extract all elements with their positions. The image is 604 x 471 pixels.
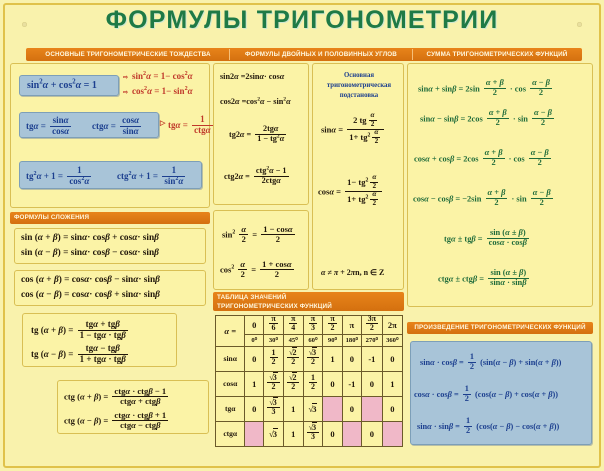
cell-deg-360: 360⁰ <box>382 334 402 346</box>
formula-sin-sum: sin (α + β) = sinα· cosβ + cosα· sinβ <box>21 233 159 243</box>
table-row: sinα 0 12 √22 √32 1 0 -1 0 <box>216 346 403 371</box>
cell-tg-180: 0 <box>342 396 361 421</box>
table-row-radians: α = 0 π6 π4 π3 π2 π 3π2 2π <box>216 316 403 335</box>
panel-universal-substitution: Основная тригонометрическая подстановка … <box>312 63 404 290</box>
formula-tg-difference: tg (α − β) = tgα − tgβ1 + tgα · tgβ <box>31 345 130 365</box>
cell-sin-270: -1 <box>362 346 383 371</box>
cell-row-label-cos: cosα <box>216 371 245 396</box>
formula-tg-definition: tgα = sinαcosα <box>26 117 73 137</box>
panel-half-angle: sin2 α2 = 1 − cosα2 cos2 α2 = 1 + cosα2 <box>213 210 309 290</box>
box-pythagorean-identity: sin2α + cos2α = 1 <box>19 75 119 96</box>
table-row: cosα 1 √32 √22 12 0 -1 0 1 <box>216 371 403 396</box>
cell-deg-90: 90⁰ <box>323 334 342 346</box>
cell-deg-0: 0⁰ <box>245 334 264 346</box>
cell-cos-45: √22 <box>283 371 303 396</box>
cell-rad-0: 0 <box>245 316 264 335</box>
cell-rad-pi6: π6 <box>264 316 284 335</box>
header-addition-formulas: ФОРМУЛЫ СЛОЖЕНИЯ <box>10 212 210 224</box>
formula-sin-substitution: sinα = 2 tgα2 1+ tg2α2 <box>321 114 386 148</box>
formula-ctg-difference: ctg (α − β) = ctgα · ctgβ + 1ctgα − ctgβ <box>64 412 170 431</box>
header-values-table-line2: ТРИГОНОМЕТРИЧЕСКИХ ФУНКЦИЙ <box>217 302 404 311</box>
cell-deg-180: 180⁰ <box>342 334 361 346</box>
header-product-of-functions: ПРОИЗВЕДЕНИЕ ТРИГОНОМЕТРИЧЕСКИХ ФУНКЦИЙ <box>407 322 593 334</box>
cell-rad-pi4: π4 <box>283 316 303 335</box>
arrow-derived-cos-icon: ⇨ <box>123 89 128 96</box>
cell-ctg-180-undefined <box>342 421 361 446</box>
arrow-derived-sin-icon: ⇨ <box>123 74 128 81</box>
cell-ctg-270: 0 <box>362 421 383 446</box>
cell-row-label-tg: tgα <box>216 396 245 421</box>
formula-ctg-2a: ctg2α = ctg2α − 12ctgα <box>224 168 291 186</box>
cell-sin-0: 0 <box>245 346 264 371</box>
header-double-half-angles: ФОРМУЛЫ ДВОЙНЫХ И ПОЛОВИННЫХ УГЛОВ <box>231 48 411 61</box>
cell-row-label-ctg: ctgα <box>216 421 245 446</box>
formula-sin-2a: sin2α =2sinα· cosα <box>220 72 284 81</box>
cell-ctg-30: √3 <box>264 421 284 446</box>
arrow-tg-reciprocal-icon: ▷ <box>160 119 165 127</box>
label-substitution-line3: подстановка <box>313 92 405 99</box>
formula-pythagorean: sin2α + cos2α = 1 <box>27 80 97 91</box>
box-tg-ctg-definitions: tgα = sinαcosα ctgα = cosαsinα <box>19 112 159 138</box>
table-row: ctgα √3 1 √33 0 0 <box>216 421 403 446</box>
panel-basic-identities: sin2α + cos2α = 1 ⇨ sin2α = 1− cos2α ⇨ c… <box>10 63 210 208</box>
label-substitution-line1: Основная <box>313 72 405 79</box>
formula-tg-sum: tg (α + β) = tgα + tgβ1 − tgα · tgβ <box>31 321 130 341</box>
panel-sum-to-product: sinα + sinβ = 2sin α + β2 · cos α − β2 s… <box>407 63 593 307</box>
cell-tg-0: 0 <box>245 396 264 421</box>
cell-sin-180: 0 <box>342 346 361 371</box>
formula-cos-2a: cos2α =cos2α − sin2α <box>220 97 291 106</box>
formula-cos-cos-product: cosα · cosβ = 12 (cos(α − β) + cos(α + β… <box>414 386 558 405</box>
cell-rad-2pi: 2π <box>382 316 402 335</box>
formula-derived-sin: sin2α = 1− cos2α <box>132 71 193 81</box>
cell-ctg-90: 0 <box>323 421 342 446</box>
cell-tg-90-undefined <box>323 396 342 421</box>
formula-tg-squared-plus-one: tg2α + 1 = 1cos2α <box>26 167 93 187</box>
formula-sin-plus-sin: sinα + sinβ = 2sin α + β2 · cos α − β2 <box>418 80 554 99</box>
cell-ctg-0-undefined <box>245 421 264 446</box>
cell-sin-90: 1 <box>323 346 342 371</box>
cell-deg-270: 270⁰ <box>362 334 383 346</box>
cell-tg-45: 1 <box>283 396 303 421</box>
cell-rad-pi3: π3 <box>303 316 323 335</box>
page-title: ФОРМУЛЫ ТРИГОНОМЕТРИИ <box>0 6 604 35</box>
trigonometry-formula-poster: ФОРМУЛЫ ТРИГОНОМЕТРИИ ОСНОВНЫЕ ТРИГОНОМЕ… <box>0 0 604 471</box>
panel-tangent-addition: tg (α + β) = tgα + tgβ1 − tgα · tgβ tg (… <box>22 313 177 367</box>
formula-cos-difference: cos (α − β) = cosα· cosβ + sinα· sinβ <box>21 290 160 300</box>
formula-cos-half-squared: cos2 α2 = 1 + cosα2 <box>220 261 296 280</box>
values-table: α = 0 π6 π4 π3 π2 π 3π2 2π 0⁰ 30⁰ 45⁰ 60… <box>215 315 403 447</box>
table-row: tgα 0 √33 1 √3 0 0 <box>216 396 403 421</box>
cell-deg-60: 60⁰ <box>303 334 323 346</box>
cell-sin-45: √22 <box>283 346 303 371</box>
formula-sin-sin-product: sinα · sinβ = 12 (cos(α − β) − cos(α + β… <box>417 418 559 437</box>
cell-cos-0: 1 <box>245 371 264 396</box>
formula-derived-cos: cos2α = 1− sin2α <box>132 86 193 96</box>
formula-ctg-sum: ctg (α + β) = ctgα · ctgβ − 1ctgα + ctgβ <box>64 388 170 407</box>
header-values-table-line1: ТАБЛИЦА ЗНАЧЕНИЙ <box>217 293 404 302</box>
cell-cos-270: 0 <box>362 371 383 396</box>
cell-cos-60: 12 <box>303 371 323 396</box>
cell-cos-180: -1 <box>342 371 361 396</box>
formula-substitution-condition: α ≠ π + 2πn, n ∈ Z <box>321 268 384 277</box>
cell-cos-30: √32 <box>264 371 284 396</box>
cell-cos-360: 1 <box>382 371 402 396</box>
box-secant-cosecant-identities: tg2α + 1 = 1cos2α ctg2α + 1 = 1sin2α <box>19 161 202 189</box>
panel-cosine-addition: cos (α + β) = cosα· cosβ − sinα· sinβ co… <box>14 270 206 306</box>
cell-sin-30: 12 <box>264 346 284 371</box>
cell-deg-45: 45⁰ <box>283 334 303 346</box>
cell-angle-label: α = <box>216 316 245 347</box>
cell-tg-360: 0 <box>382 396 402 421</box>
label-substitution-line2: тригонометрическая <box>313 82 405 89</box>
formula-sin-minus-sin: sinα − sinβ = 2cos α + β2 · sin α − β2 <box>420 110 556 129</box>
cell-tg-60: √3 <box>303 396 323 421</box>
panel-double-angle: sin2α =2sinα· cosα cos2α =cos2α − sin2α … <box>213 63 309 205</box>
section-header-bar: ОСНОВНЫЕ ТРИГОНОМЕТРИЧЕСКИЕ ТОЖДЕСТВА ФО… <box>26 48 582 61</box>
cell-ctg-360-undefined <box>382 421 402 446</box>
cell-rad-pi: π <box>342 316 361 335</box>
formula-cos-minus-cos: cosα − cosβ = −2sin α + β2 · sin α − β2 <box>413 190 555 209</box>
cell-sin-360: 0 <box>382 346 402 371</box>
cell-sin-60: √32 <box>303 346 323 371</box>
formula-tg-reciprocal: tgα = 1ctgα <box>168 116 215 136</box>
panel-product-to-sum: sinα · cosβ = 12 (sin(α − β) + sin(α + β… <box>410 341 592 445</box>
cell-tg-270-undefined <box>362 396 383 421</box>
cell-row-label-sin: sinα <box>216 346 245 371</box>
cell-deg-30: 30⁰ <box>264 334 284 346</box>
formula-ctg-squared-plus-one: ctg2α + 1 = 1sin2α <box>117 167 187 187</box>
formula-sin-cos-product: sinα · cosβ = 12 (sin(α − β) + sin(α + β… <box>420 354 561 373</box>
panel-cotangent-addition: ctg (α + β) = ctgα · ctgβ − 1ctgα + ctgβ… <box>57 380 209 434</box>
formula-ctg-pm-ctg: ctgα ± ctgβ = sin (α ± β)sinα · sinβ <box>438 270 531 289</box>
header-identities: ОСНОВНЫЕ ТРИГОНОМЕТРИЧЕСКИЕ ТОЖДЕСТВА <box>28 48 228 61</box>
cell-ctg-45: 1 <box>283 421 303 446</box>
formula-cos-sum: cos (α + β) = cosα· cosβ − sinα· sinβ <box>21 275 160 285</box>
header-sum-of-functions: СУММА ТРИГОНОМЕТРИЧЕСКИХ ФУНКЦИЙ <box>414 48 580 61</box>
cell-cos-90: 0 <box>323 371 342 396</box>
formula-ctg-definition: ctgα = cosαsinα <box>92 117 143 137</box>
formula-tg-pm-tg: tgα ± tgβ = sin (α ± β)cosα · cosβ <box>444 230 531 249</box>
formula-cos-plus-cos: cosα + cosβ = 2cos α + β2 · cos α − β2 <box>414 150 553 169</box>
cell-rad-pi2: π2 <box>323 316 342 335</box>
formula-cos-substitution: cosα = 1− tg2α2 1+ tg2α2 <box>318 176 384 210</box>
formula-tg-2a: tg2α = 2tgα1 − tg2α <box>229 126 288 144</box>
formula-sin-half-squared: sin2 α2 = 1 − cosα2 <box>222 226 297 245</box>
formula-sin-difference: sin (α − β) = sinα· cosβ − cosα· sinβ <box>21 248 159 258</box>
cell-ctg-60: √33 <box>303 421 323 446</box>
cell-rad-3pi2: 3π2 <box>362 316 383 335</box>
panel-sine-addition: sin (α + β) = sinα· cosβ + cosα· sinβ si… <box>14 228 206 264</box>
cell-tg-30: √33 <box>264 396 284 421</box>
header-values-table: ТАБЛИЦА ЗНАЧЕНИЙ ТРИГОНОМЕТРИЧЕСКИХ ФУНК… <box>213 292 404 311</box>
